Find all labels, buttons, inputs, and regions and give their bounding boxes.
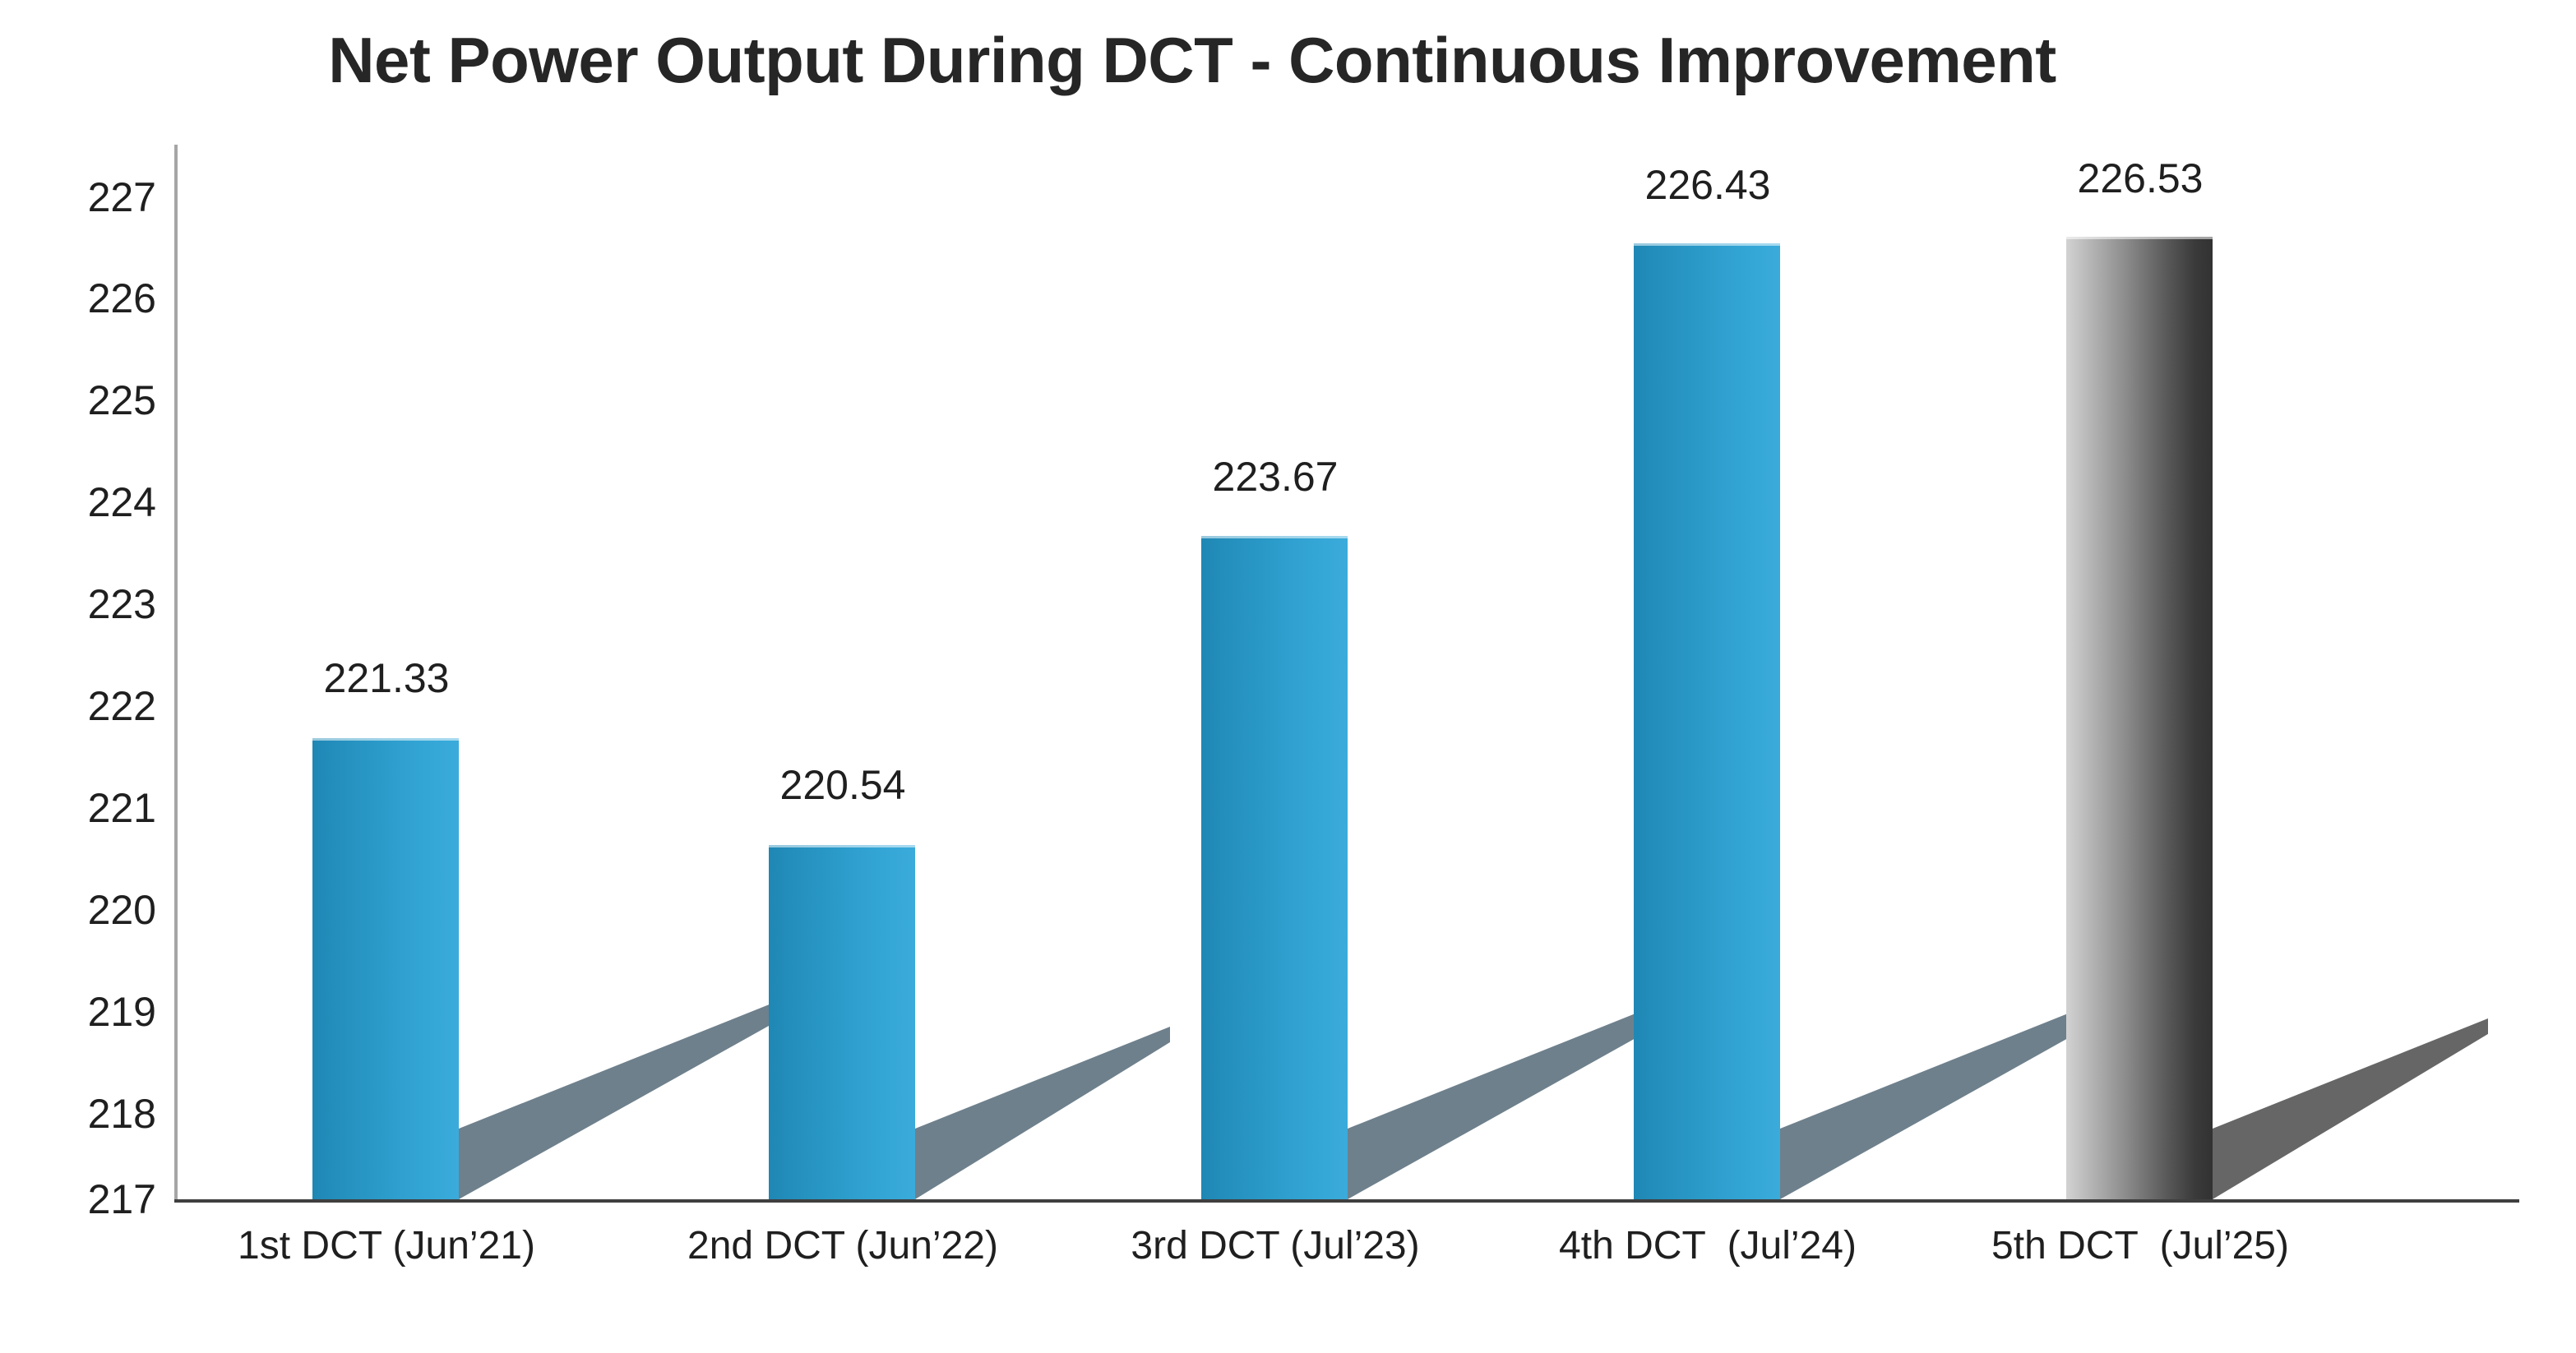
bar-value-label: 226.43 — [1556, 164, 1860, 205]
bar-shadow — [459, 991, 804, 1199]
bar-1[interactable] — [312, 738, 459, 1199]
bar-value-label: 226.53 — [1988, 158, 2292, 199]
bar-value-label: 221.33 — [234, 658, 539, 699]
bar-value-label: 220.54 — [691, 764, 995, 806]
x-axis-category-label: 1st DCT (Jun’21) — [185, 1226, 588, 1266]
x-axis-category-label: 4th DCT (Jul’24) — [1506, 1226, 1909, 1266]
bar-top-highlight — [312, 738, 459, 741]
chart-canvas: Net Power Output During DCT - Continuous… — [0, 0, 2576, 1353]
bar-shadow — [915, 1027, 1170, 1199]
bar-top-highlight — [1634, 243, 1780, 246]
bar-top-highlight — [2066, 237, 2213, 239]
bar-4[interactable] — [1634, 243, 1780, 1199]
x-axis-category-label: 3rd DCT (Jul’23) — [1074, 1226, 1477, 1266]
x-axis-category-label: 5th DCT (Jul’25) — [1939, 1226, 2342, 1266]
bar-3[interactable] — [1201, 536, 1348, 1199]
bars-layer: 221.331st DCT (Jun’21)220.542nd DCT (Jun… — [0, 0, 2576, 1353]
x-axis-category-label: 2nd DCT (Jun’22) — [641, 1226, 1044, 1266]
bar-shadow — [2213, 1018, 2488, 1199]
bar-top-highlight — [1201, 536, 1348, 538]
bar-top-highlight — [769, 845, 915, 847]
bar-value-label: 223.67 — [1123, 456, 1427, 497]
bar-5[interactable] — [2066, 237, 2213, 1199]
bar-2[interactable] — [769, 845, 915, 1199]
